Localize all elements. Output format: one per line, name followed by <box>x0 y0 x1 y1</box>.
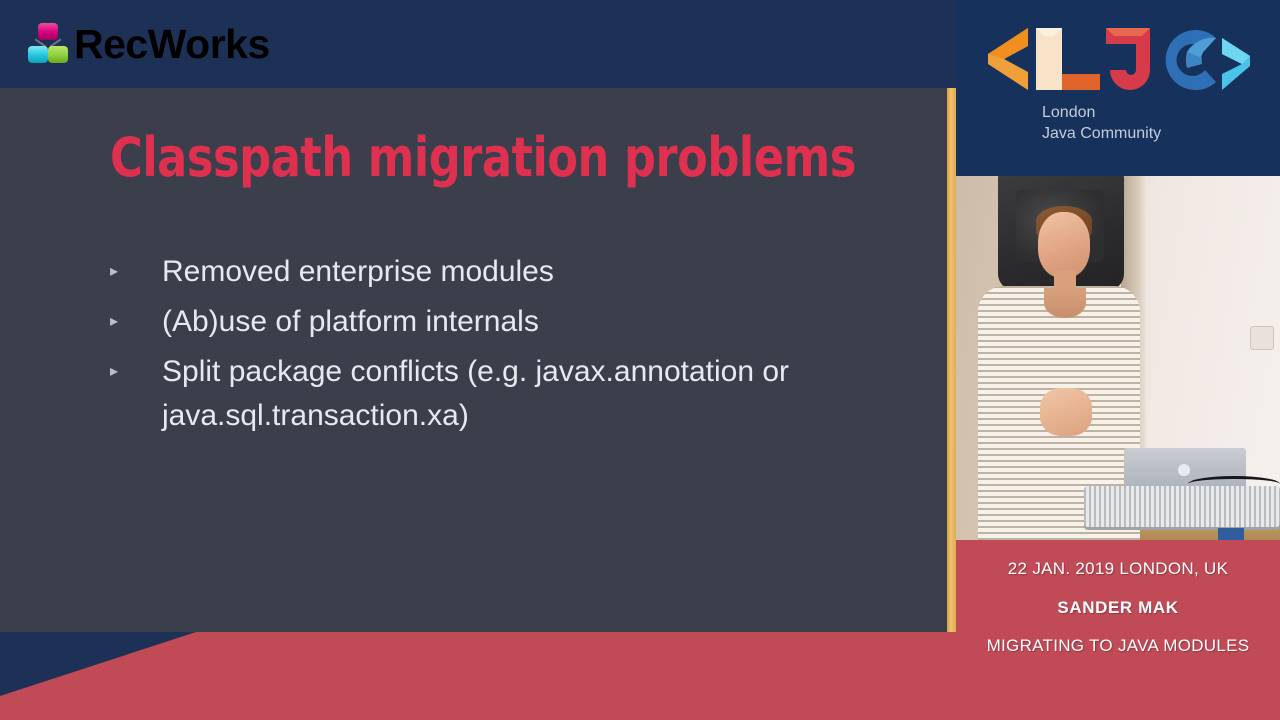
conference-name-line-2: Java Community <box>1042 123 1161 144</box>
list-item: ▸ (Ab)use of platform internals <box>103 300 893 344</box>
bullet-text: (Ab)use of platform internals <box>162 300 539 344</box>
speaker-name: SANDER MAK <box>956 598 1280 618</box>
bullet-arrow-icon: ▸ <box>103 350 162 394</box>
bullet-arrow-icon: ▸ <box>103 300 162 344</box>
slide-title: Classpath migration problems <box>110 126 856 189</box>
top-branding-bar: RecWorks <box>0 0 960 88</box>
bottom-band <box>0 632 956 720</box>
right-sidebar: London Java Community 22 JAN. 2019 LONDO… <box>956 0 1280 720</box>
av-device <box>1084 486 1280 530</box>
talk-info-panel: 22 JAN. 2019 LONDON, UK SANDER MAK MIGRA… <box>956 540 1280 720</box>
speaker-camera-feed <box>956 176 1280 540</box>
ljc-logo <box>984 24 1252 94</box>
bottom-band-accent <box>0 632 200 720</box>
presenter-collar <box>1044 288 1086 318</box>
bullet-text: Removed enterprise modules <box>162 250 554 294</box>
talk-title: MIGRATING TO JAVA MODULES <box>956 636 1280 656</box>
conference-name-line-1: London <box>1042 102 1161 123</box>
company-name: RecWorks <box>74 24 270 65</box>
bullet-arrow-icon: ▸ <box>103 250 162 294</box>
logo-node-right <box>48 46 68 63</box>
conference-logo-panel: London Java Community <box>956 0 1280 176</box>
conference-name: London Java Community <box>1042 102 1161 144</box>
presentation-slide: Classpath migration problems ▸ Removed e… <box>0 88 947 632</box>
vertical-gold-divider <box>947 88 956 632</box>
logo-node-top <box>38 23 58 40</box>
list-item: ▸ Split package conflicts (e.g. javax.an… <box>103 350 893 438</box>
recworks-network-logo <box>28 22 68 66</box>
slide-bullet-list: ▸ Removed enterprise modules ▸ (Ab)use o… <box>103 250 893 444</box>
laptop-logo-icon <box>1178 464 1190 476</box>
bullet-text: Split package conflicts (e.g. javax.anno… <box>162 350 893 438</box>
presenter-head <box>1038 212 1090 278</box>
event-date-location: 22 JAN. 2019 LONDON, UK <box>956 559 1280 579</box>
blue-equipment-case <box>1218 528 1244 540</box>
wall-socket <box>1250 326 1274 350</box>
logo-node-left <box>28 46 48 63</box>
presenter-hands <box>1040 388 1092 436</box>
list-item: ▸ Removed enterprise modules <box>103 250 893 294</box>
